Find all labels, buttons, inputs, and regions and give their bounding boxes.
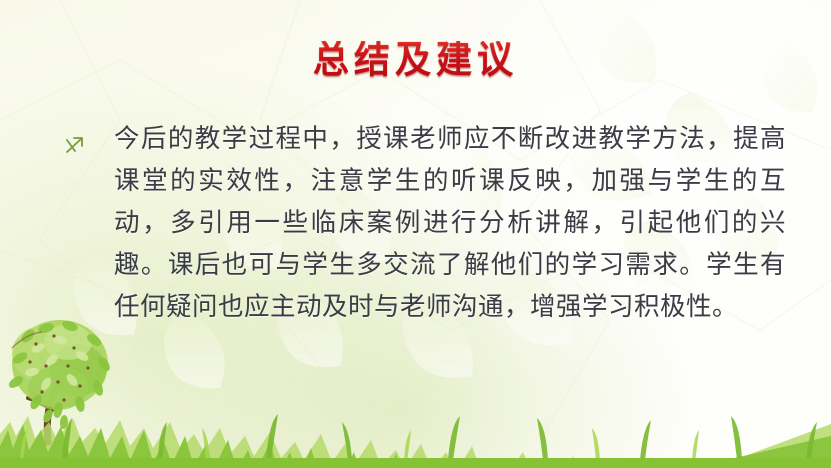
grass-band — [0, 390, 831, 468]
body-paragraph: 今后的教学过程中，授课老师应不断改进教学方法，提高课堂的实效性，注意学生的听课反… — [56, 118, 786, 328]
slide-body: 今后的教学过程中，授课老师应不断改进教学方法，提高课堂的实效性，注意学生的听课反… — [56, 118, 786, 328]
presentation-slide: 总结及建议 今后的教学过程中，授课老师应不断改进教学方法，提高课堂的实效性，注意… — [0, 0, 831, 468]
slide-title: 总结及建议 — [0, 41, 831, 79]
arrow-up-right-icon — [64, 134, 86, 156]
